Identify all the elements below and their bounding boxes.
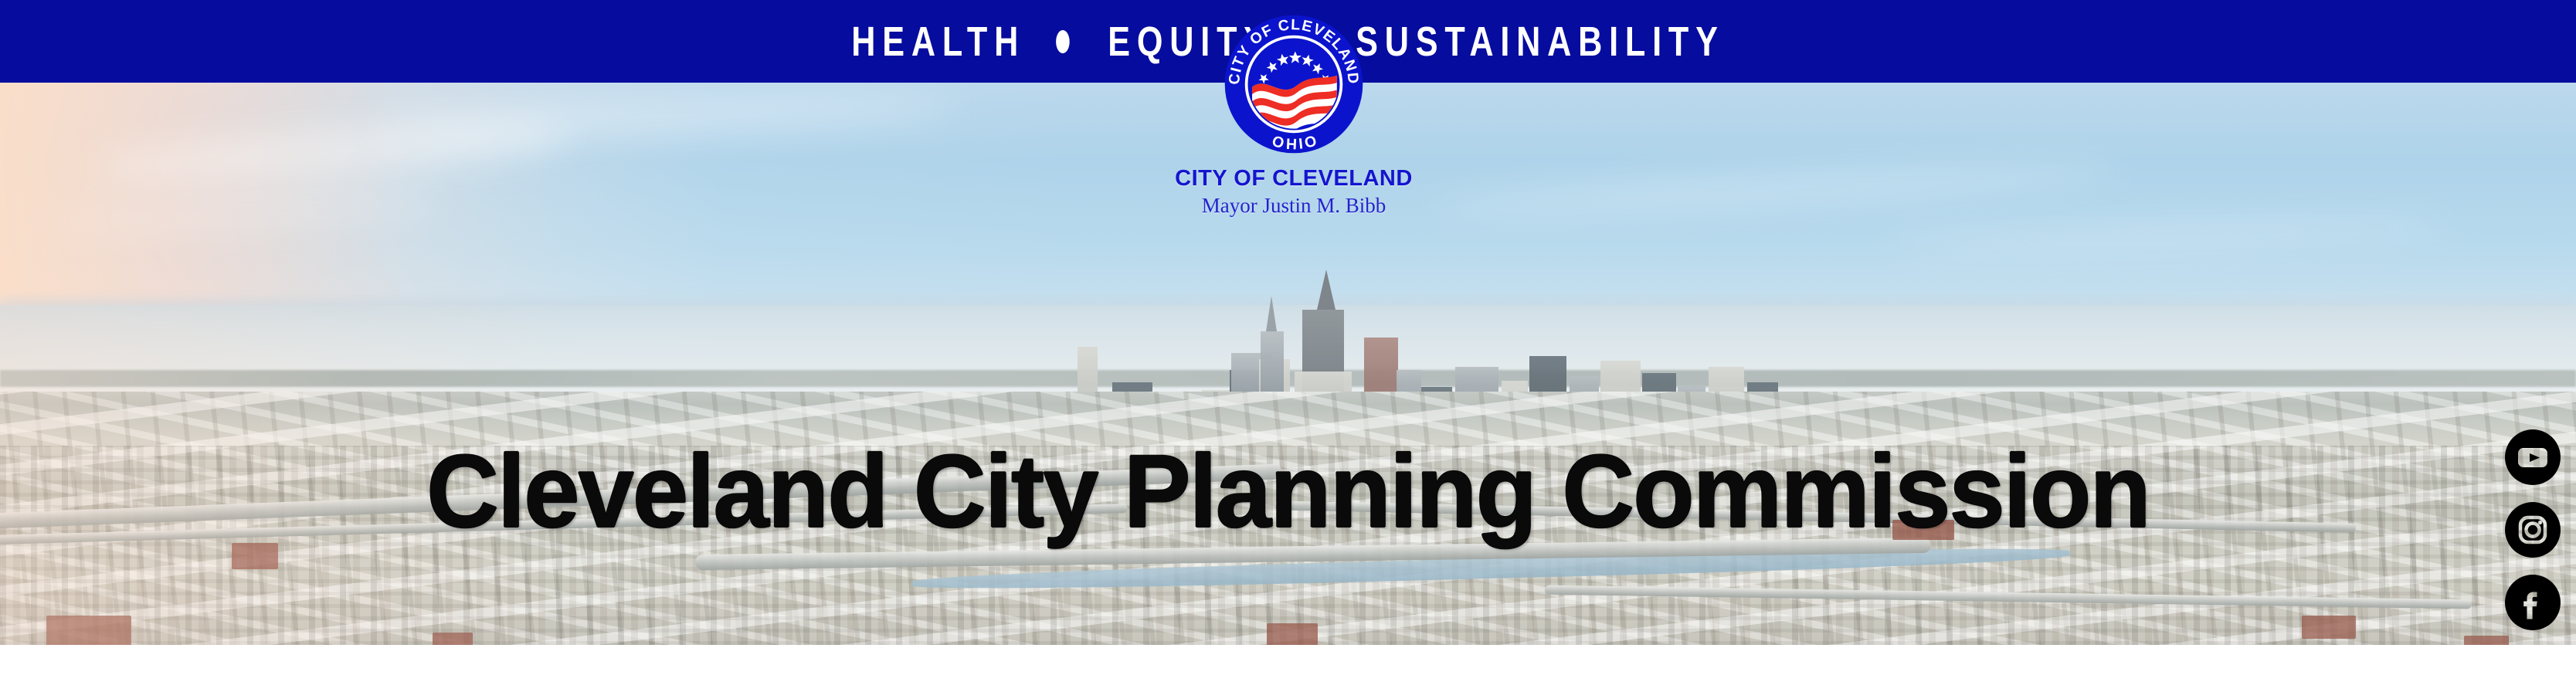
city-of-cleveland-seal-icon: CITY OF CLEVELAND OIHO — [1222, 12, 1366, 156]
rooftop — [433, 633, 473, 645]
social-link-instagram[interactable] — [2505, 502, 2561, 558]
city-logo-block: CITY OF CLEVELAND OIHO — [1166, 12, 1421, 217]
terminal-tower-spire — [1266, 296, 1277, 331]
tagline-separator-dot-1 — [1056, 30, 1070, 53]
page-banner: HEALTH EQUITY SUSTAINABILITY — [0, 0, 2576, 682]
tagline-word-health: HEALTH — [851, 21, 1025, 63]
rooftop — [2464, 636, 2509, 645]
social-links — [2505, 429, 2562, 647]
youtube-icon[interactable] — [2505, 429, 2561, 485]
instagram-icon[interactable] — [2505, 502, 2561, 558]
rooftop — [1267, 623, 1318, 645]
rooftop — [2302, 616, 2356, 639]
facebook-icon[interactable] — [2505, 575, 2561, 630]
bottom-white-margin — [0, 645, 2576, 682]
city-logo-subtitle: Mayor Justin M. Bibb — [1166, 195, 1421, 216]
key-tower-spire — [1317, 270, 1336, 310]
page-title: Cleveland City Planning Commission — [39, 440, 2537, 544]
rooftop — [232, 543, 278, 569]
city-logo-title: CITY OF CLEVELAND — [1166, 167, 1421, 190]
social-link-youtube[interactable] — [2505, 429, 2561, 485]
social-link-facebook[interactable] — [2505, 575, 2561, 630]
rooftop — [46, 616, 131, 645]
